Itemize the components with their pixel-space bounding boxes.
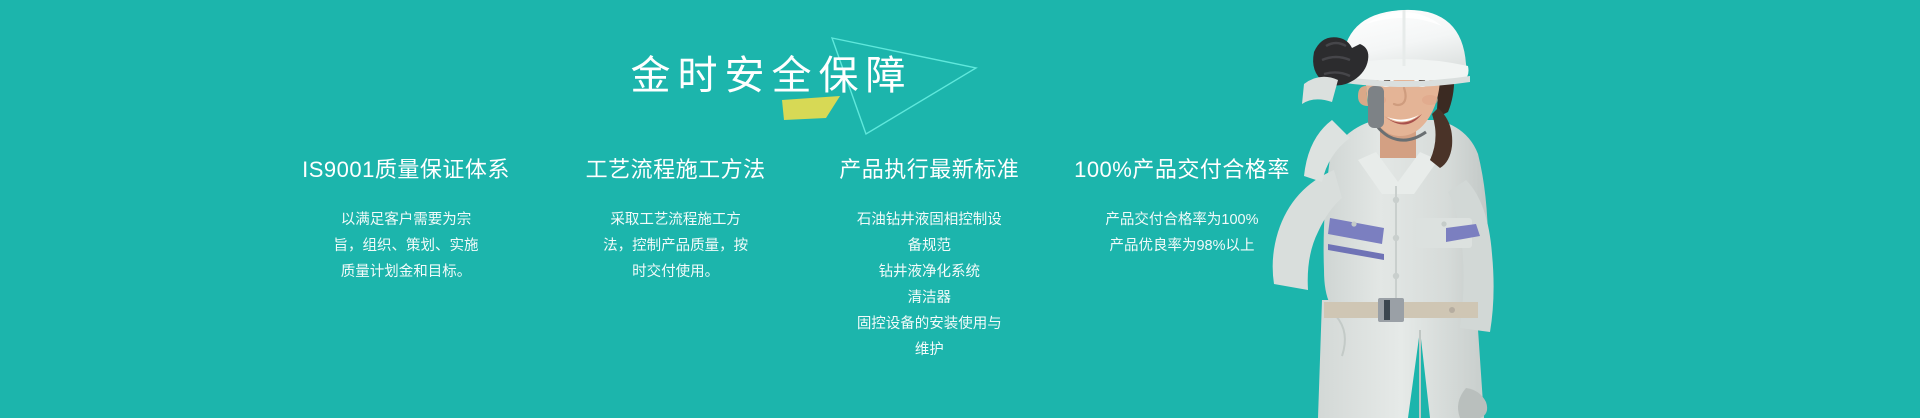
- feature-body-line: 以满足客户需要为宗: [304, 207, 508, 233]
- feature-body-line: 钻井液净化系统: [833, 259, 1025, 285]
- feature-body-line: 备规范: [833, 233, 1025, 259]
- feature-body-line: 法，控制产品质量，按: [581, 233, 771, 259]
- feature-column-iso-quality: IS9001质量保证体系 以满足客户需要为宗 旨，组织、策划、实施 质量计划金和…: [290, 155, 522, 285]
- feature-body-line: 采取工艺流程施工方: [581, 207, 771, 233]
- feature-body-line: 清洁器: [833, 285, 1025, 311]
- feature-body: 产品交付合格率为100% 产品优良率为98%以上: [1074, 207, 1290, 259]
- feature-title: 100%产品交付合格率: [1074, 155, 1290, 185]
- feature-column-delivery-pass-rate: 100%产品交付合格率 产品交付合格率为100% 产品优良率为98%以上: [1074, 155, 1290, 259]
- feature-body: 以满足客户需要为宗 旨，组织、策划、实施 质量计划金和目标。: [290, 207, 522, 285]
- feature-body-line: 石油钻井液固相控制设: [833, 207, 1025, 233]
- feature-title: 工艺流程施工方法: [567, 155, 785, 185]
- feature-title: IS9001质量保证体系: [290, 155, 522, 185]
- page-title: 金时安全保障: [0, 52, 1536, 100]
- feature-body: 采取工艺流程施工方 法，控制产品质量，按 时交付使用。: [567, 207, 785, 285]
- feature-columns: IS9001质量保证体系 以满足客户需要为宗 旨，组织、策划、实施 质量计划金和…: [290, 155, 1290, 363]
- feature-body-line: 固控设备的安装使用与: [833, 311, 1025, 337]
- feature-body: 石油钻井液固相控制设 备规范 钻井液净化系统 清洁器 固控设备的安装使用与 维护: [829, 207, 1029, 363]
- safety-guarantee-banner: 金时安全保障 IS9001质量保证体系 以满足客户需要为宗 旨，组织、策划、实施…: [0, 0, 1920, 418]
- feature-body-line: 质量计划金和目标。: [304, 259, 508, 285]
- feature-body-line: 旨，组织、策划、实施: [304, 233, 508, 259]
- feature-column-latest-standard: 产品执行最新标准 石油钻井液固相控制设 备规范 钻井液净化系统 清洁器 固控设备…: [829, 155, 1029, 363]
- feature-body-line: 维护: [833, 337, 1025, 363]
- feature-body-line: 时交付使用。: [581, 259, 771, 285]
- feature-title: 产品执行最新标准: [829, 155, 1029, 185]
- feature-column-process-method: 工艺流程施工方法 采取工艺流程施工方 法，控制产品质量，按 时交付使用。: [567, 155, 785, 285]
- feature-body-line: 产品优良率为98%以上: [1076, 233, 1288, 259]
- feature-body-line: 产品交付合格率为100%: [1076, 207, 1288, 233]
